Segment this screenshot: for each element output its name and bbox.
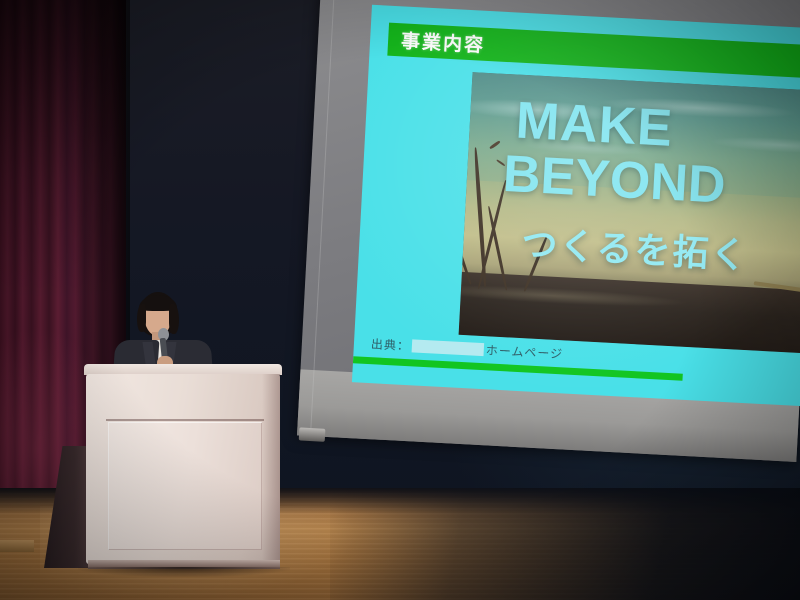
stage-step [0,540,34,552]
slide-title-bar: 事業内容 [387,23,800,80]
lectern-front-panel [108,422,262,550]
source-label: 出典： [371,335,411,354]
presenter-hair-left [137,304,146,332]
screen-weight-bar [299,427,326,441]
projection-screen: 事業内容 MAKE BEYOND つくるを拓く [295,0,800,492]
slide-photo: MAKE BEYOND つくるを拓く [459,72,800,354]
source-tail: ホームページ [485,341,563,362]
lectern-seam [106,419,264,421]
photo-headline-line2: BEYOND [502,150,727,211]
lectern-right-edge [262,374,280,564]
podium-group [84,292,294,577]
redaction-box [412,339,485,356]
presenter-hair-right [169,304,179,334]
lectern [84,364,282,569]
floor-dark-region [330,488,800,600]
slide-title: 事業内容 [387,26,485,58]
lectern-floor-shadow [78,567,290,577]
stage-scene: 事業内容 MAKE BEYOND つくるを拓く [0,0,800,600]
photo-headline-line1: MAKE [515,97,675,155]
projected-slide: 事業内容 MAKE BEYOND つくるを拓く [352,5,800,407]
